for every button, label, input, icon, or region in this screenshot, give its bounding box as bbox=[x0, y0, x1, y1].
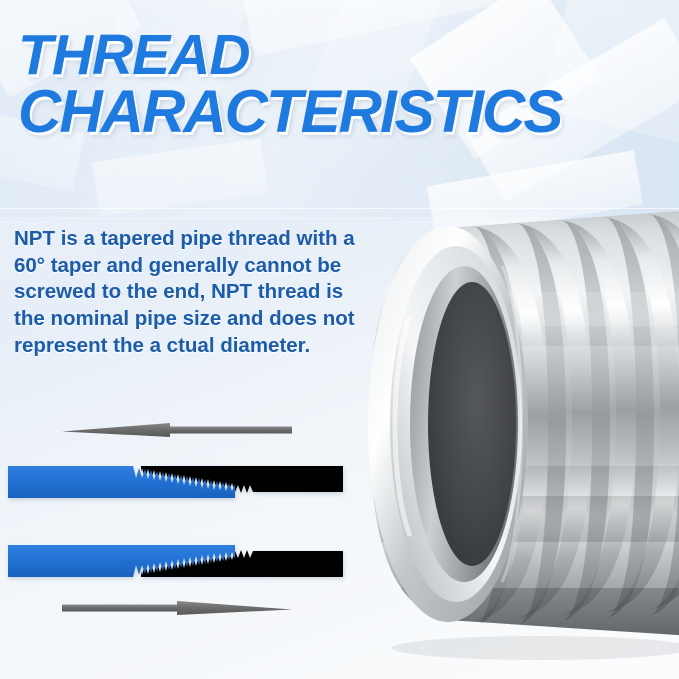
description-text: NPT is a tapered pipe thread with a 60° … bbox=[14, 226, 364, 359]
thread-engagement-diagram bbox=[0, 408, 360, 638]
page-title: THREAD CHARACTERISTICS bbox=[18, 28, 678, 141]
thread-pair-top bbox=[8, 466, 343, 498]
infographic-canvas: THREAD CHARACTERISTICS NPT is a tapered … bbox=[0, 0, 679, 679]
title-line-2: CHARACTERISTICS bbox=[18, 83, 678, 141]
thread-pair-bottom bbox=[8, 545, 343, 577]
threaded-steel-pipe-photo bbox=[352, 196, 679, 666]
description-block: NPT is a tapered pipe thread with a 60° … bbox=[14, 226, 364, 359]
arrow-right-icon bbox=[62, 594, 292, 624]
arrow-left-icon bbox=[62, 416, 292, 446]
